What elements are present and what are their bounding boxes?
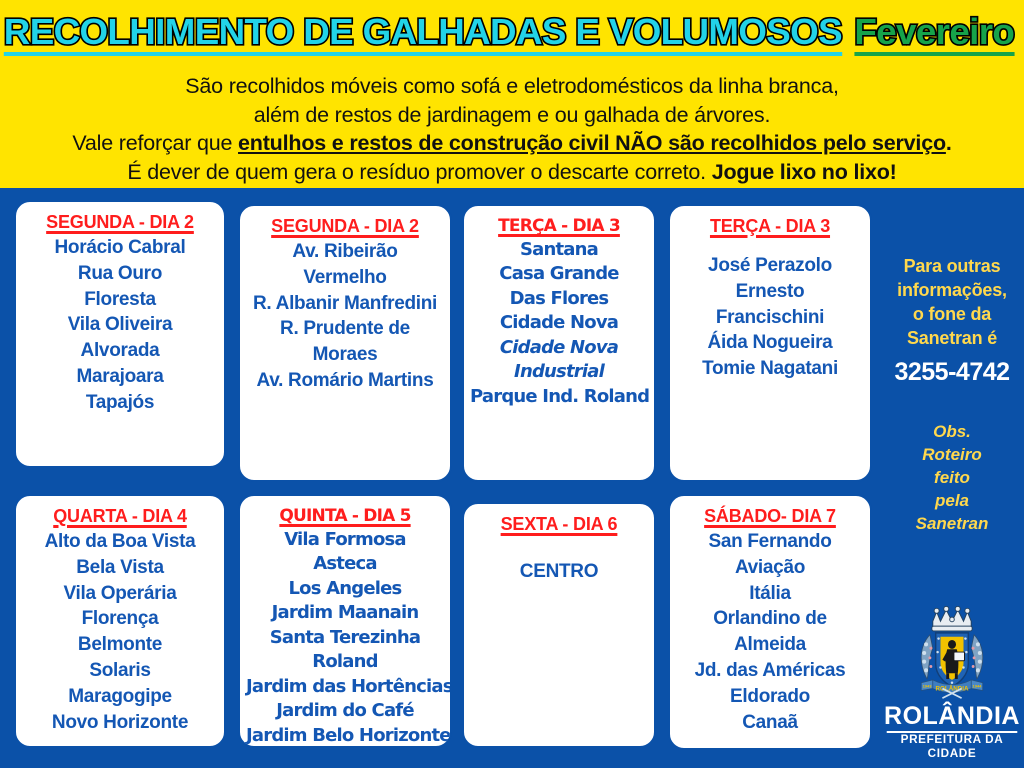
card-item: Florença	[22, 606, 218, 632]
description-line-4: É dever de quem gera o resíduo promover …	[0, 158, 1024, 187]
card-item: Novo Horizonte	[22, 710, 218, 736]
crest-year-left-text: 1943	[923, 684, 933, 689]
card-item: Parque Ind. Roland	[470, 385, 648, 409]
card-item: Vermelho	[246, 265, 444, 291]
card-item: Los Angeles	[246, 577, 444, 601]
description-line-4-prefix: É dever de quem gera o resíduo promover …	[127, 160, 711, 184]
description-line-4-emphasis: Jogue lixo no lixo!	[712, 160, 897, 184]
description-line-2: além de restos de jardinagem e ou galhad…	[0, 101, 1024, 130]
card-item: Av. Ribeirão	[246, 239, 444, 265]
card-item: San Fernando	[676, 529, 864, 555]
contact-info-line-4: Sanetran é	[880, 327, 1024, 351]
card-header: QUARTA - DIA 4	[22, 506, 218, 527]
card-item: Vila Oliveira	[22, 312, 218, 338]
contact-info-line-2: informações,	[880, 279, 1024, 303]
description-line-3-suffix: .	[946, 131, 952, 155]
card-item: Tapajós	[22, 390, 218, 416]
card-header: SEGUNDA - DIA 2	[22, 212, 218, 233]
card-item: Rua Ouro	[22, 261, 218, 287]
card-item: Orlandino de	[676, 606, 864, 632]
card-item: Jardim do Café	[246, 699, 444, 723]
description-line-3-emphasis: entulhos e restos de construção civil NÃ…	[238, 131, 946, 155]
card-item: Solaris	[22, 658, 218, 684]
card-item: Av. Romário Martins	[246, 368, 444, 394]
card-header: SEGUNDA - DIA 2	[246, 216, 444, 237]
spacer	[676, 239, 864, 253]
card-item: Jd. das Américas	[676, 658, 864, 684]
card-item: Vila Formosa	[246, 528, 444, 552]
observation-line-2: Roteiro	[880, 444, 1024, 467]
card-item: Almeida	[676, 632, 864, 658]
schedule-card-segunda-dia-2-b[interactable]: SEGUNDA - DIA 2 Av. Ribeirão Vermelho R.…	[238, 204, 452, 482]
logo-subtitle: PREFEITURA DA CIDADE	[887, 731, 1018, 762]
card-item: Aviação	[676, 555, 864, 581]
city-hall-logo: ROLÂNDIA 1943 1944 ROLÂNDIA PREFEITURA D…	[880, 606, 1024, 762]
card-header: TERÇA - DIA 3	[470, 216, 648, 236]
card-item: Itália	[676, 581, 864, 607]
month-label: Fevereiro	[854, 14, 1014, 56]
card-item: Cidade Nova	[470, 336, 648, 360]
observation-line-1: Obs.	[880, 421, 1024, 444]
card-item: Tomie Nagatani	[676, 356, 864, 382]
card-item: Casa Grande	[470, 262, 648, 286]
observation-line-3: feito	[880, 467, 1024, 490]
card-item: Jardim Belo Horizonte	[246, 724, 444, 748]
card-item: Horácio Cabral	[22, 235, 218, 261]
card-item: Cidade Nova	[470, 311, 648, 335]
card-item: Jardim Maanain	[246, 601, 444, 625]
card-item: Marajoara	[22, 364, 218, 390]
card-item: Alto da Boa Vista	[22, 529, 218, 555]
card-item: Santa Terezinha	[246, 626, 444, 650]
description-line-3-prefix: Vale reforçar que	[72, 131, 238, 155]
card-item: Jardim das Hortências	[246, 675, 444, 699]
schedule-card-terca-dia-3-a[interactable]: TERÇA - DIA 3 Santana Casa Grande Das Fl…	[462, 204, 656, 482]
card-item: Asteca	[246, 552, 444, 576]
crest-year-right-text: 1944	[972, 684, 982, 689]
title-row: RECOLHIMENTO DE GALHADAS E VOLUMOSOSFeve…	[0, 0, 1024, 56]
card-header: QUINTA - DIA 5	[246, 506, 444, 526]
card-item: CENTRO	[470, 559, 648, 585]
card-item: R. Prudente de	[246, 316, 444, 342]
card-item: Bela Vista	[22, 555, 218, 581]
card-item: Das Flores	[470, 287, 648, 311]
card-header: SEXTA - DIA 6	[470, 514, 648, 535]
contact-phone-number[interactable]: 3255-4742	[880, 358, 1024, 387]
card-item: Francischini	[676, 305, 864, 331]
contact-sidebar: Para outras informações, o fone da Sanet…	[880, 255, 1024, 535]
card-item: Áida Nogueira	[676, 330, 864, 356]
observation-line-4: pela	[880, 490, 1024, 513]
card-item: Alvorada	[22, 338, 218, 364]
card-header: SÁBADO- DIA 7	[676, 506, 864, 527]
card-item: Roland	[246, 650, 444, 674]
schedule-card-terca-dia-3-b[interactable]: TERÇA - DIA 3 José Perazolo Ernesto Fran…	[668, 204, 872, 482]
description-line-3: Vale reforçar que entulhos e restos de c…	[0, 129, 1024, 158]
card-item: Eldorado	[676, 684, 864, 710]
observation-note: Obs. Roteiro feito pela Sanetran	[880, 421, 1024, 536]
observation-line-5: Sanetran	[880, 513, 1024, 536]
logo-city-name: ROLÂNDIA	[880, 704, 1024, 729]
description-line-1: São recolhidos móveis como sofá e eletro…	[0, 72, 1024, 101]
crest-motto-text: ROLÂNDIA	[936, 685, 969, 692]
banner-description: São recolhidos móveis como sofá e eletro…	[0, 72, 1024, 186]
card-item: José Perazolo	[676, 253, 864, 279]
card-item: Ernesto	[676, 279, 864, 305]
contact-info-line-1: Para outras	[880, 255, 1024, 279]
card-item: Floresta	[22, 287, 218, 313]
header-banner: RECOLHIMENTO DE GALHADAS E VOLUMOSOSFeve…	[0, 0, 1024, 188]
coat-of-arms-icon: ROLÂNDIA 1943 1944	[904, 606, 1000, 702]
schedule-card-sabado-dia-7[interactable]: SÁBADO- DIA 7 San Fernando Aviação Itáli…	[668, 494, 872, 750]
card-item: Moraes	[246, 342, 444, 368]
card-header: TERÇA - DIA 3	[676, 216, 864, 237]
schedule-card-segunda-dia-2-a[interactable]: SEGUNDA - DIA 2 Horácio Cabral Rua Ouro …	[14, 200, 226, 468]
card-item: Belmonte	[22, 632, 218, 658]
card-item: Santana	[470, 238, 648, 262]
card-item: Canaã	[676, 710, 864, 736]
schedule-card-quarta-dia-4[interactable]: QUARTA - DIA 4 Alto da Boa Vista Bela Vi…	[14, 494, 226, 748]
card-item: Maragogipe	[22, 684, 218, 710]
spacer	[470, 537, 648, 559]
card-item: R. Albanir Manfredini	[246, 291, 444, 317]
page-title: RECOLHIMENTO DE GALHADAS E VOLUMOSOS	[4, 14, 842, 56]
schedule-card-quinta-dia-5[interactable]: QUINTA - DIA 5 Vila Formosa Asteca Los A…	[238, 494, 452, 748]
contact-info-line-3: o fone da	[880, 303, 1024, 327]
card-item: Industrial	[470, 360, 648, 384]
card-item: Vila Operária	[22, 581, 218, 607]
schedule-card-sexta-dia-6[interactable]: SEXTA - DIA 6 CENTRO	[462, 502, 656, 748]
